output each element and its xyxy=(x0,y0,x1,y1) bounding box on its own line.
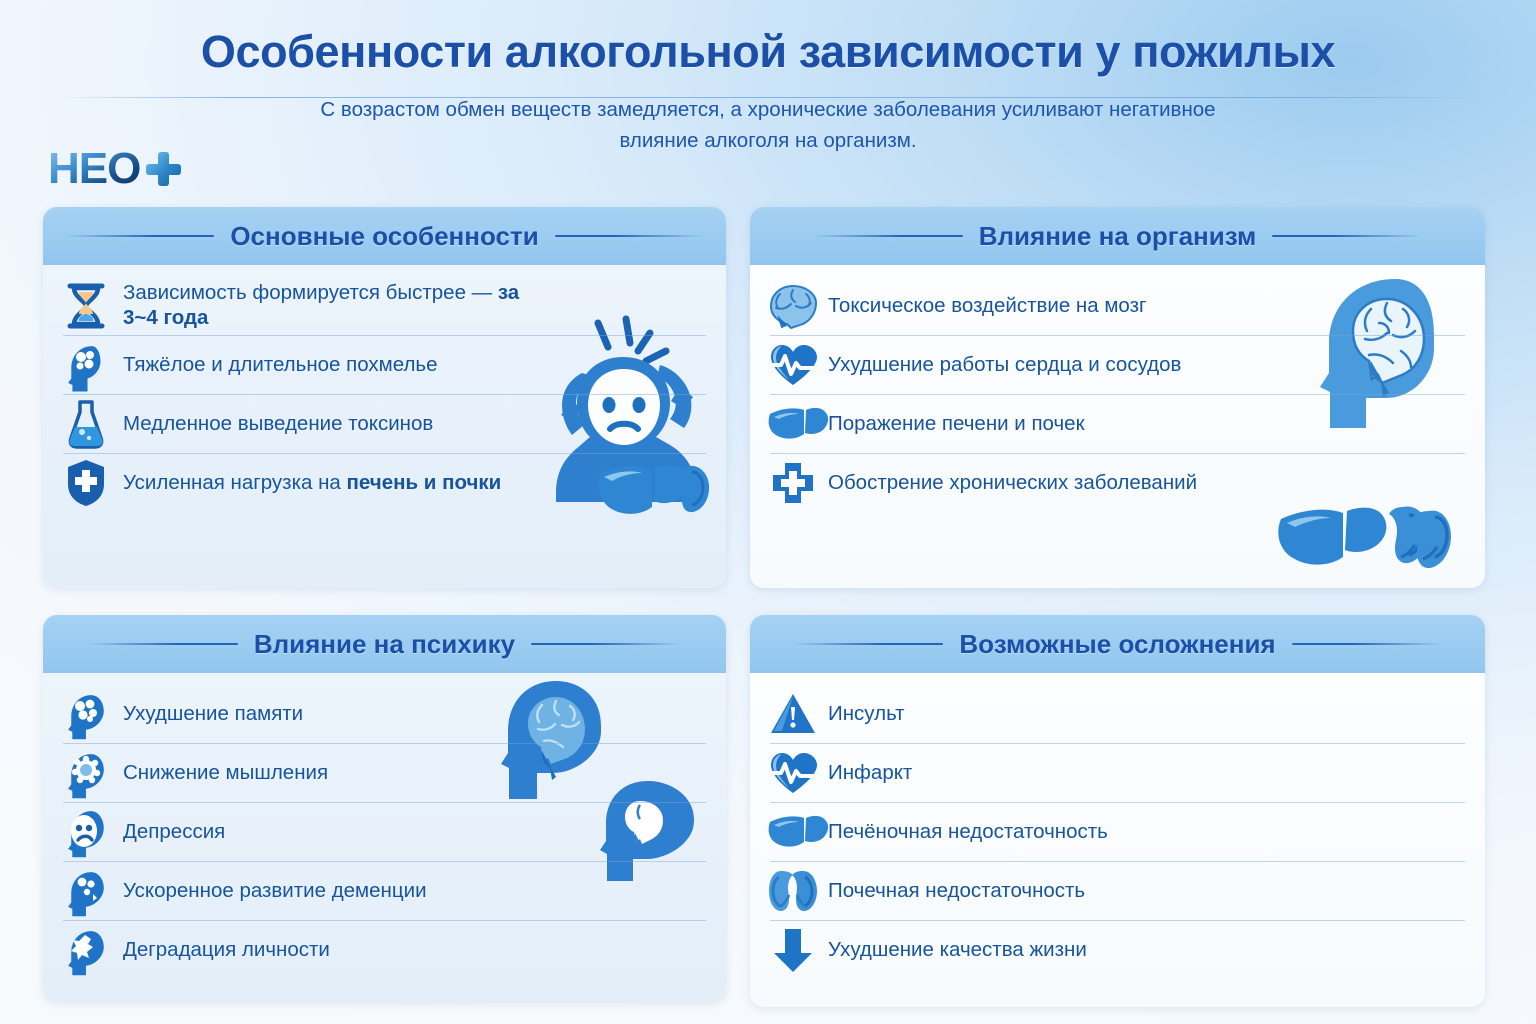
label-plain: Зависимость формируется быстрее — xyxy=(123,281,498,304)
header-rule-right xyxy=(555,235,704,237)
header: Особенности алкогольной зависимости у по… xyxy=(0,0,1536,156)
list-item-label: Снижение мышления xyxy=(123,761,328,786)
list-item: Ухудшение работы сердца и сосудов xyxy=(770,335,1465,394)
list-item-label: Инсульт xyxy=(828,702,905,727)
header-rule-left xyxy=(793,643,943,645)
logo-text: НЕО xyxy=(48,147,140,191)
header-rule-left xyxy=(813,235,963,237)
list-item: Деградация личности xyxy=(63,920,706,979)
plus-icon xyxy=(145,151,181,187)
card-body: Зависимость формируется быстрее — за 3~4… xyxy=(43,265,726,526)
card-osnovnye-osobennosti: Основные особенности xyxy=(43,207,726,588)
list-item-label: Токсическое воздействие на мозг xyxy=(828,294,1146,319)
list-item-label: Деградация личности xyxy=(123,938,330,963)
shield-cross-icon xyxy=(63,460,109,506)
card-header: Основные особенности xyxy=(43,207,726,265)
list-item-label: Ухудшение памяти xyxy=(123,702,303,727)
list-item-label: Обострение хронических заболеваний xyxy=(828,471,1197,496)
list-item-label: Ухудшение работы сердца и сосудов xyxy=(828,353,1181,378)
list-item-label: Депрессия xyxy=(123,820,225,845)
list-item: Зависимость формируется быстрее — за 3~4… xyxy=(63,277,706,335)
medical-cross-icon xyxy=(770,460,816,506)
card-vliyanie-na-psihiku: Влияние на психику xyxy=(43,615,726,1002)
list-item-label: Ускоренное развитие деменции xyxy=(123,879,427,904)
card-header: Влияние на психику xyxy=(43,615,726,673)
list-item: Почечная недостаточность xyxy=(770,861,1465,920)
sad-face-icon xyxy=(63,809,109,855)
list-item: Инфаркт xyxy=(770,743,1465,802)
head-hangover-icon xyxy=(63,342,109,388)
list-item-label: Зависимость формируется быстрее — за 3~4… xyxy=(123,281,536,330)
card-vliyanie-na-organizm: Влияние на организм xyxy=(750,207,1485,588)
list-item-label: Печёночная недостаточность xyxy=(828,820,1108,845)
list-item: Печёночная недостаточность xyxy=(770,802,1465,861)
label-bold: печень и почки xyxy=(347,471,502,494)
list-item: Медленное выведение токсинов xyxy=(63,394,706,453)
header-rule-left xyxy=(88,643,238,645)
list-item-label: Инфаркт xyxy=(828,761,912,786)
card-title: Основные особенности xyxy=(230,221,538,252)
head-thinking-icon xyxy=(63,750,109,796)
list-item: Инсульт xyxy=(770,685,1465,743)
liver-icon xyxy=(770,809,816,855)
list-item: Ускоренное развитие деменции xyxy=(63,861,706,920)
list-item-label: Ухудшение качества жизни xyxy=(828,938,1087,963)
card-vozmozhnye-oslozhneniya: Возможные осложнения Инсульт xyxy=(750,615,1485,1007)
card-title: Влияние на психику xyxy=(254,629,515,660)
header-rule-left xyxy=(65,235,214,237)
list-item: Поражение печени и почек xyxy=(770,394,1465,453)
card-title: Влияние на организм xyxy=(979,221,1256,252)
list-item: Усиленная нагрузка на печень и почки xyxy=(63,453,706,512)
card-body: Токсическое воздействие на мозг Ухудшени… xyxy=(750,265,1485,526)
list-item-label: Усиленная нагрузка на печень и почки xyxy=(123,471,501,496)
warning-triangle-icon xyxy=(770,691,816,737)
header-rule-right xyxy=(1272,235,1422,237)
head-dementia-icon xyxy=(63,868,109,914)
liver-icon xyxy=(770,401,816,447)
head-memory-icon xyxy=(63,691,109,737)
down-arrow-icon xyxy=(770,927,816,973)
list-item: Снижение мышления xyxy=(63,743,706,802)
label-plain: Усиленная нагрузка на xyxy=(123,471,347,494)
heart-pulse-icon xyxy=(770,342,816,388)
list-item-label: Тяжёлое и длительное похмелье xyxy=(123,353,438,378)
list-item: Депрессия xyxy=(63,802,706,861)
flask-toxins-icon xyxy=(63,401,109,447)
header-rule-right xyxy=(1292,643,1442,645)
title-divider xyxy=(50,97,1486,98)
heart-pulse-icon xyxy=(770,750,816,796)
header-rule-right xyxy=(531,643,681,645)
list-item-label: Поражение печени и почек xyxy=(828,412,1085,437)
neo-plus-logo: НЕО xyxy=(48,147,181,191)
head-degradation-icon xyxy=(63,927,109,973)
list-item-label: Медленное выведение токсинов xyxy=(123,412,433,437)
card-header: Влияние на организм xyxy=(750,207,1485,265)
kidneys-icon xyxy=(770,868,816,914)
list-item: Ухудшение качества жизни xyxy=(770,920,1465,979)
card-header: Возможные осложнения xyxy=(750,615,1485,673)
list-item: Тяжёлое и длительное похмелье xyxy=(63,335,706,394)
card-body: Инсульт Инфаркт xyxy=(750,673,1485,993)
list-item: Обострение хронических заболеваний xyxy=(770,453,1465,512)
infographic-page: Особенности алкогольной зависимости у по… xyxy=(0,0,1536,1024)
list-item-label: Почечная недостаточность xyxy=(828,879,1085,904)
list-item: Ухудшение памяти xyxy=(63,685,706,743)
brain-icon xyxy=(770,283,816,329)
list-item: Токсическое воздействие на мозг xyxy=(770,277,1465,335)
hourglass-icon xyxy=(63,283,109,329)
page-title: Особенности алкогольной зависимости у по… xyxy=(0,0,1536,78)
card-title: Возможные осложнения xyxy=(959,629,1275,660)
page-subtitle: С возрастом обмен веществ замедляется, а… xyxy=(0,78,1536,156)
card-body: Ухудшение памяти Снижение мыш xyxy=(43,673,726,993)
